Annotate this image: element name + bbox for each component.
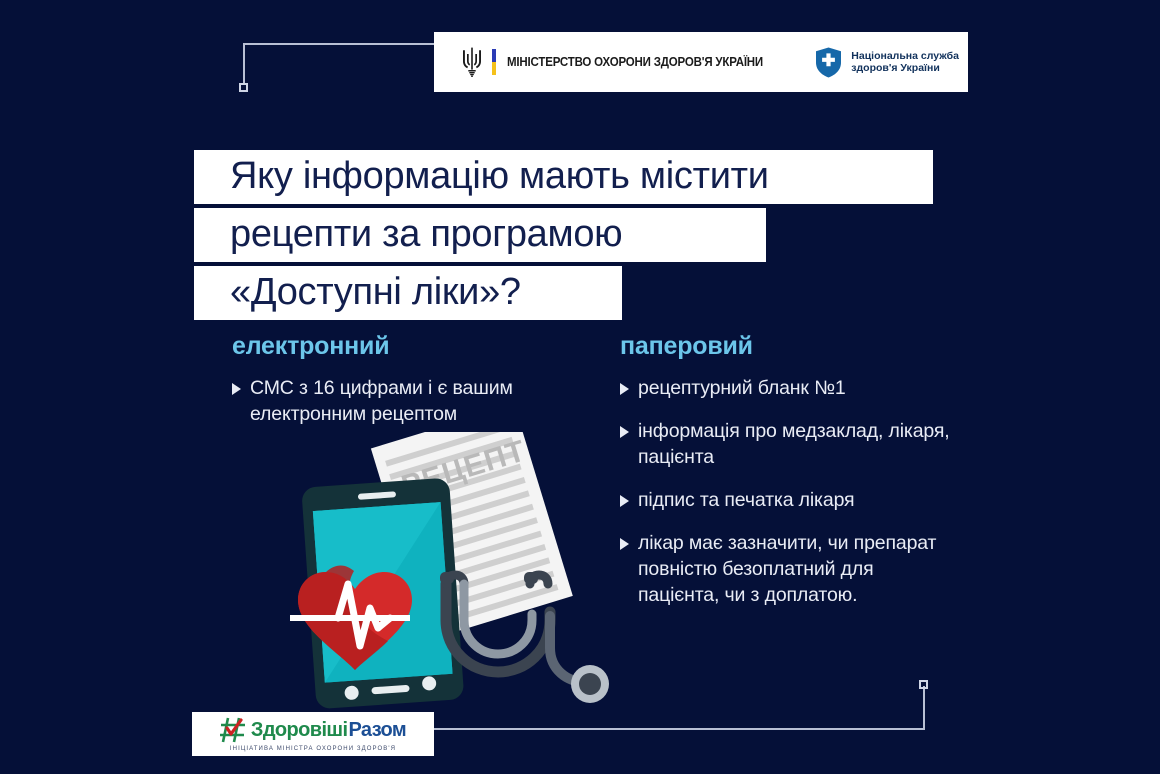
list-item-text: СМС з 16 цифрами і є вашим електронним р… [250,375,542,427]
column-electronic: електронний СМС з 16 цифрами і є вашим е… [232,332,542,444]
flag-divider [492,49,496,75]
page-title-line-2: рецепти за програмою [194,208,766,262]
bottom-bracket-vertical-line [923,686,925,730]
bottom-bracket-end-square [919,680,928,689]
list-item: СМС з 16 цифрами і є вашим електронним р… [232,375,542,427]
list-item-text: підпис та печатка лікаря [638,487,950,513]
list-item-text: лікар має зазначити, чи препарат повніст… [638,530,950,608]
top-bracket-horizontal-line [243,43,438,45]
nhsu-name-text: Національна служба здоров'я України [851,50,959,75]
ministry-of-health-logo: МІНІСТЕРСТВО ОХОРОНИ ЗДОРОВ'Я УКРАЇНИ [460,47,785,77]
list-item: підпис та печатка лікаря [620,487,950,513]
infographic-canvas: МІНІСТЕРСТВО ОХОРОНИ ЗДОРОВ'Я УКРАЇНИ На… [0,0,1160,774]
prescription-illustration: РЕЦЕПТ [268,432,638,722]
page-title: Яку інформацію мають містити рецепти за … [194,150,1160,324]
list-item: лікар має зазначити, чи препарат повніст… [620,530,950,608]
top-bracket-end-square [239,83,248,92]
bottom-bracket-horizontal-line [430,728,925,730]
zdorovishi-razom-logo: Здоровіші Разом ІНІЦІАТИВА МІНІСТРА ОХОР… [192,712,434,756]
nhsu-name-line2: здоров'я України [851,62,959,75]
top-bracket-vertical-line [243,43,245,85]
list-item: інформація про медзаклад, лікаря, пацієн… [620,418,950,470]
nhsu-logo: Національна служба здоров'я України [815,47,959,78]
list-item-text: рецептурний бланк №1 [638,375,950,401]
column-electronic-list: СМС з 16 цифрами і є вашим електронним р… [232,375,542,427]
page-title-line-1: Яку інформацію мають містити [194,150,933,204]
list-item-text: інформація про медзаклад, лікаря, пацієн… [638,418,950,470]
logo-tagline: ІНІЦІАТИВА МІНІСТРА ОХОРОНИ ЗДОРОВ'Я [230,746,396,752]
logo-word-blue: Разом [348,720,406,740]
list-item: рецептурний бланк №1 [620,375,950,401]
nhsu-shield-cross-icon [815,47,842,78]
header-logo-band: МІНІСТЕРСТВО ОХОРОНИ ЗДОРОВ'Я УКРАЇНИ На… [434,32,968,92]
nhsu-name-line1: Національна служба [851,50,959,63]
bullet-triangle-icon [620,383,629,395]
logo-word-green: Здоровіші [251,720,348,740]
column-paper: паперовий рецептурний бланк №1 інформаці… [620,332,950,625]
hashtag-checkmark-icon [220,717,250,743]
ukraine-trident-emblem-icon [460,47,484,77]
ministry-name-text: МІНІСТЕРСТВО ОХОРОНИ ЗДОРОВ'Я УКРАЇНИ [507,55,763,69]
column-paper-list: рецептурний бланк №1 інформація про медз… [620,375,950,608]
page-title-line-3: «Доступні ліки»? [194,266,622,320]
column-electronic-title: електронний [232,332,542,361]
column-paper-title: паперовий [620,332,950,361]
bullet-triangle-icon [232,383,241,395]
